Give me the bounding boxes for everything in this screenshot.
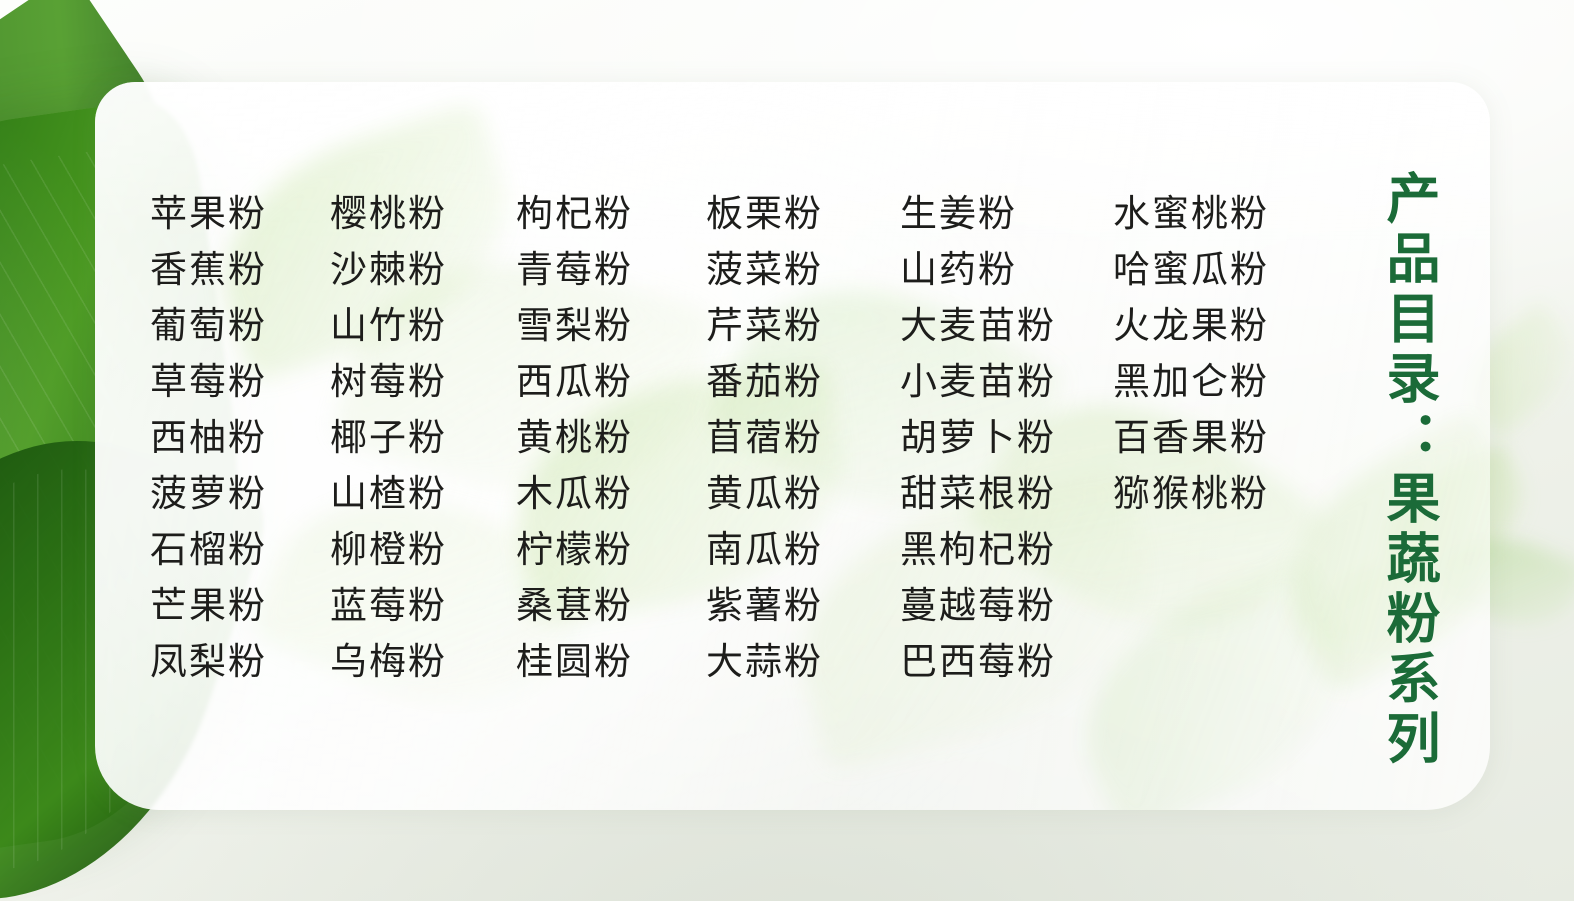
product-item: 蓝莓粉 <box>330 578 516 634</box>
product-item: 香蕉粉 <box>150 242 330 298</box>
product-item: 紫薯粉 <box>706 578 900 634</box>
product-item: 水蜜桃粉 <box>1113 186 1269 242</box>
product-item: 草莓粉 <box>150 354 330 410</box>
product-item: 石榴粉 <box>150 522 330 578</box>
product-item: 大蒜粉 <box>706 634 900 690</box>
product-item: 木瓜粉 <box>516 466 706 522</box>
product-item: 青莓粉 <box>516 242 706 298</box>
product-item: 乌梅粉 <box>330 634 516 690</box>
product-item: 树莓粉 <box>330 354 516 410</box>
poster-stage: 苹果粉 樱桃粉 枸杞粉 板栗粉 生姜粉 香蕉粉 沙棘粉 青莓粉 菠菜粉 山药粉 … <box>0 0 1574 901</box>
product-item: 柳橙粉 <box>330 522 516 578</box>
product-item: 黑加仑粉 <box>1113 354 1269 410</box>
product-item: 哈蜜瓜粉 <box>1113 242 1269 298</box>
product-item: 山竹粉 <box>330 298 516 354</box>
product-item: 小麦苗粉 <box>900 354 1114 410</box>
product-item: 山楂粉 <box>330 466 516 522</box>
product-item: 胡萝卜粉 <box>900 410 1114 466</box>
product-item: 芹菜粉 <box>706 298 900 354</box>
product-item: 芒果粉 <box>150 578 330 634</box>
product-item: 蔓越莓粉 <box>900 578 1114 634</box>
product-item: 火龙果粉 <box>1113 298 1269 354</box>
page-title: 产品目录：果蔬粉系列 <box>1360 170 1438 740</box>
product-item: 柠檬粉 <box>516 522 706 578</box>
product-item: 葡萄粉 <box>150 298 330 354</box>
product-item: 板栗粉 <box>706 186 900 242</box>
product-column-6: 水蜜桃粉 哈蜜瓜粉 火龙果粉 黑加仑粉 百香果粉 猕猴桃粉 <box>1113 186 1269 522</box>
product-item: 黄瓜粉 <box>706 466 900 522</box>
product-item: 桑葚粉 <box>516 578 706 634</box>
product-item: 番茄粉 <box>706 354 900 410</box>
product-item: 甜菜根粉 <box>900 466 1114 522</box>
product-grid: 苹果粉 樱桃粉 枸杞粉 板栗粉 生姜粉 香蕉粉 沙棘粉 青莓粉 菠菜粉 山药粉 … <box>150 186 1114 690</box>
product-item: 猕猴桃粉 <box>1113 466 1269 522</box>
product-item: 樱桃粉 <box>330 186 516 242</box>
product-item: 雪梨粉 <box>516 298 706 354</box>
product-item: 枸杞粉 <box>516 186 706 242</box>
product-item: 沙棘粉 <box>330 242 516 298</box>
product-item: 西瓜粉 <box>516 354 706 410</box>
product-item: 生姜粉 <box>900 186 1114 242</box>
product-item: 苹果粉 <box>150 186 330 242</box>
product-item: 巴西莓粉 <box>900 634 1114 690</box>
product-item: 黑枸杞粉 <box>900 522 1114 578</box>
product-item: 山药粉 <box>900 242 1114 298</box>
product-item: 大麦苗粉 <box>900 298 1114 354</box>
product-item: 菠萝粉 <box>150 466 330 522</box>
product-item: 西柚粉 <box>150 410 330 466</box>
product-item: 凤梨粉 <box>150 634 330 690</box>
product-item: 桂圆粉 <box>516 634 706 690</box>
product-item: 百香果粉 <box>1113 410 1269 466</box>
product-item: 菠菜粉 <box>706 242 900 298</box>
product-item: 南瓜粉 <box>706 522 900 578</box>
product-item: 椰子粉 <box>330 410 516 466</box>
product-item: 苜蓿粉 <box>706 410 900 466</box>
product-item: 黄桃粉 <box>516 410 706 466</box>
